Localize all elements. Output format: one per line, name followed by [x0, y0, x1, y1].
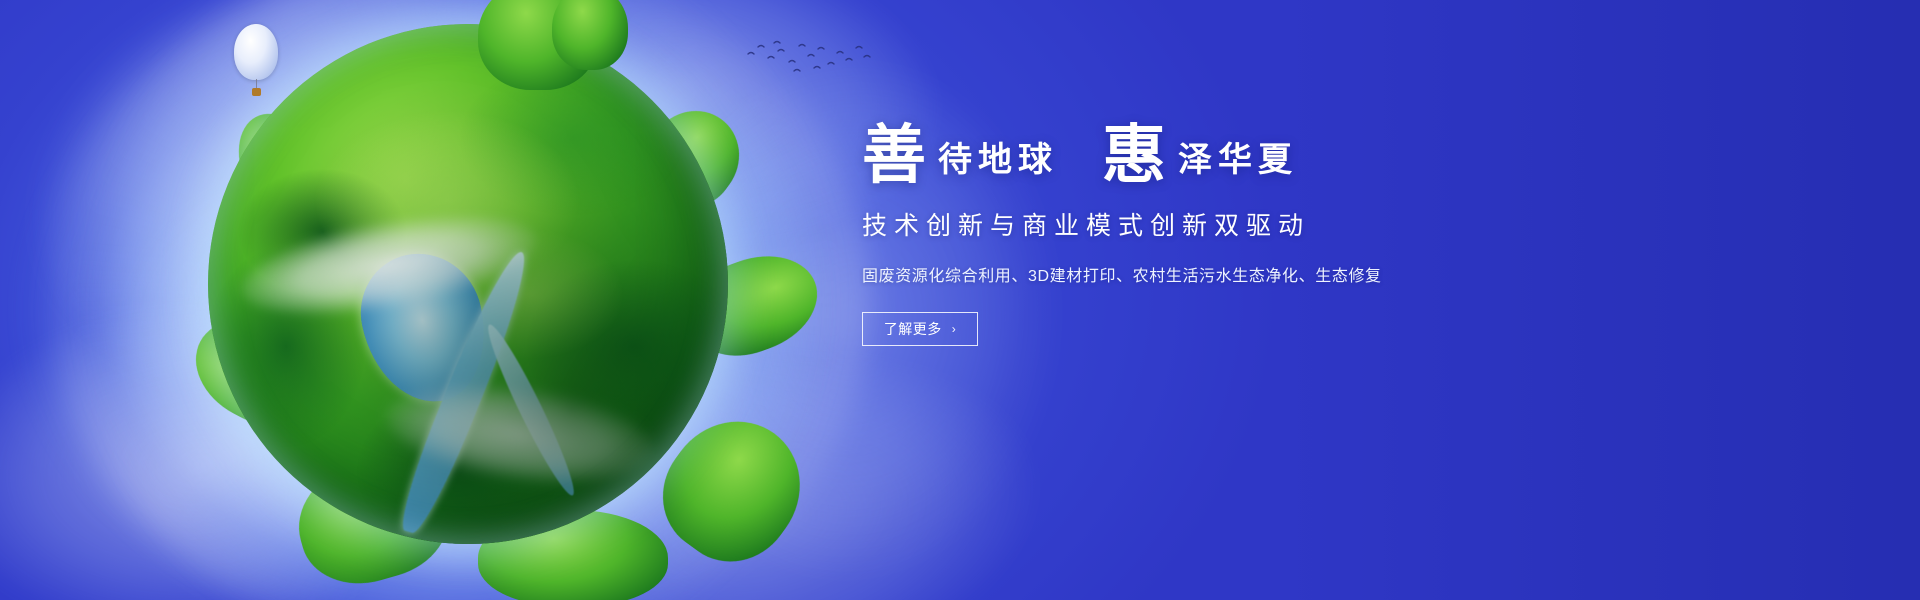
planet-rim-light: [208, 24, 728, 544]
hero-content: 善 待地球 惠 泽华夏 技术创新与商业模式创新双驱动 固废资源化综合利用、3D建…: [862, 120, 1482, 346]
planet-sphere: [208, 24, 728, 544]
page-description: 固废资源化综合利用、3D建材打印、农村生活污水生态净化、生态修复: [862, 262, 1482, 286]
tiny-planet-illustration: [148, 0, 768, 600]
bird-flock-icon: [744, 38, 874, 80]
tree-canopy-secondary: [552, 0, 628, 70]
headline-part2-secondary: 泽华夏: [1166, 144, 1298, 178]
balloon-basket: [252, 88, 261, 96]
page-subtitle: 技术创新与商业模式创新双驱动: [862, 206, 1482, 242]
chevron-right-icon: ›: [952, 323, 957, 335]
page-title: 善 待地球 惠 泽华夏: [862, 120, 1482, 184]
headline-part1-secondary: 待地球: [926, 144, 1058, 178]
learn-more-label: 了解更多: [884, 319, 942, 339]
balloon-envelope: [234, 24, 278, 80]
headline-part2-primary: 惠: [1102, 124, 1166, 188]
learn-more-button[interactable]: 了解更多 ›: [862, 312, 978, 346]
headline-part1-primary: 善: [862, 124, 926, 188]
hero-banner: 善 待地球 惠 泽华夏 技术创新与商业模式创新双驱动 固废资源化综合利用、3D建…: [0, 0, 1920, 600]
hot-air-balloon-icon: [234, 24, 278, 102]
